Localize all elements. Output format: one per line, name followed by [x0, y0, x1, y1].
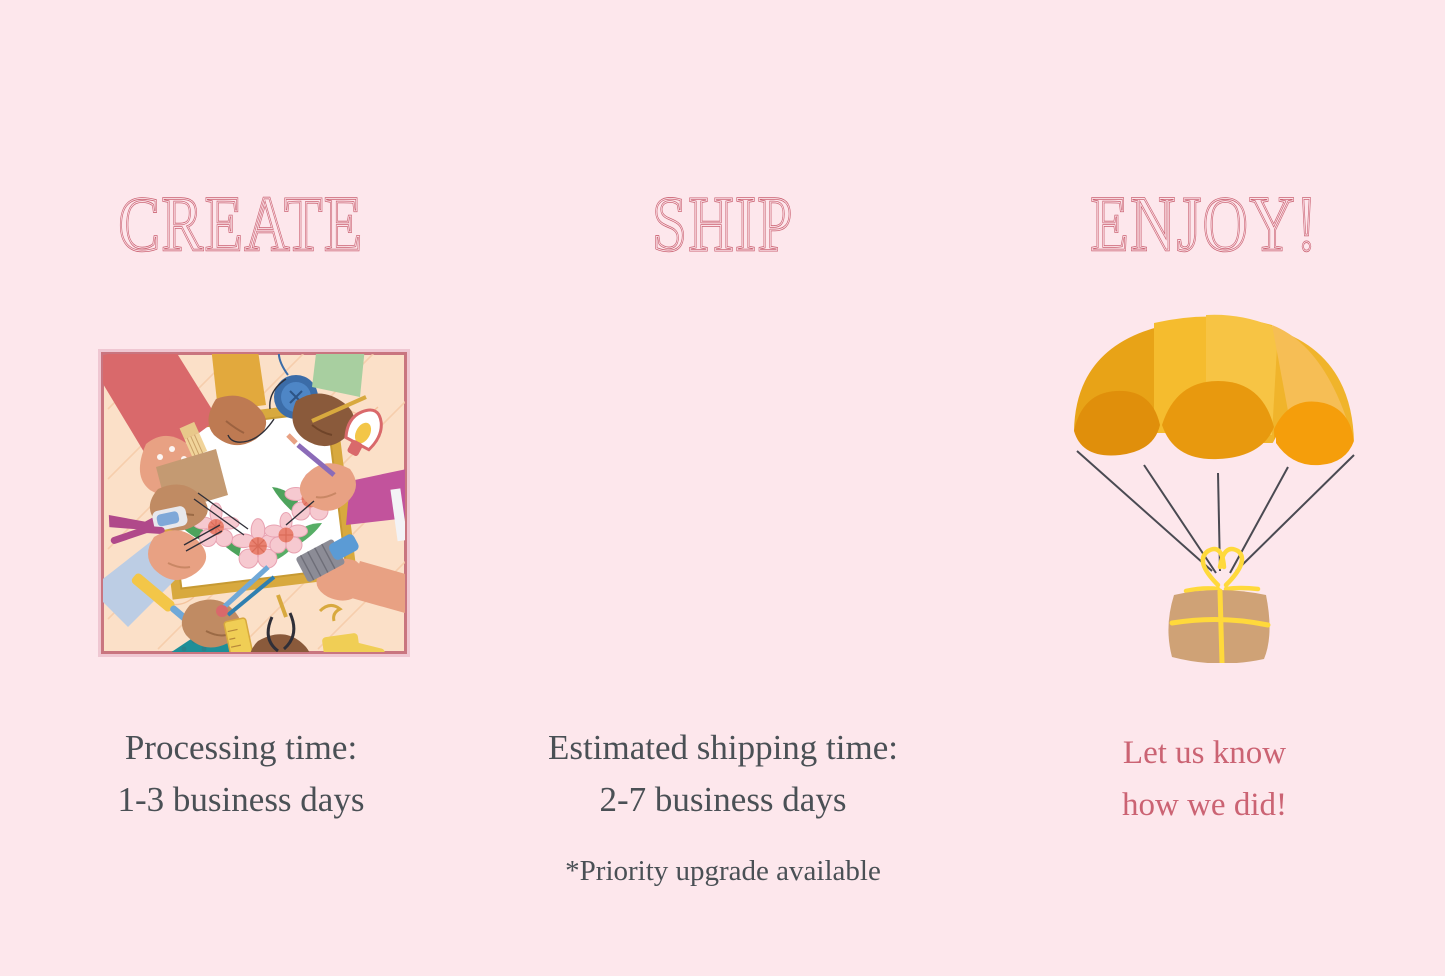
column-create: CREATE	[0, 0, 482, 976]
caption-ship-line-1: Estimated shipping time:	[482, 722, 964, 774]
caption-create: Processing time: 1-3 business days	[0, 722, 482, 826]
heading-ship-text: SHIP	[652, 184, 794, 264]
crafting-hands-illustration	[98, 349, 410, 657]
heading-enjoy-text: ENJOY!	[1091, 184, 1319, 264]
shipping-info-graphic: CREATE	[0, 0, 1445, 976]
caption-create-line-1: Processing time:	[0, 722, 482, 774]
heading-create: CREATE	[48, 184, 434, 264]
heading-enjoy: ENJOY!	[1012, 184, 1397, 264]
column-ship: SHIP	[482, 0, 964, 976]
caption-enjoy-line-1: Let us know	[964, 727, 1445, 779]
caption-enjoy: Let us know how we did!	[964, 727, 1445, 831]
caption-ship-line-2: 2-7 business days	[482, 774, 964, 826]
caption-enjoy-line-2: how we did!	[964, 779, 1445, 831]
caption-ship: Estimated shipping time: 2-7 business da…	[482, 722, 964, 894]
heading-create-text: CREATE	[118, 184, 363, 264]
column-enjoy: ENJOY!	[964, 0, 1445, 976]
heading-ship: SHIP	[530, 184, 916, 264]
caption-create-line-2: 1-3 business days	[0, 774, 482, 826]
caption-ship-note: *Priority upgrade available	[482, 848, 964, 894]
